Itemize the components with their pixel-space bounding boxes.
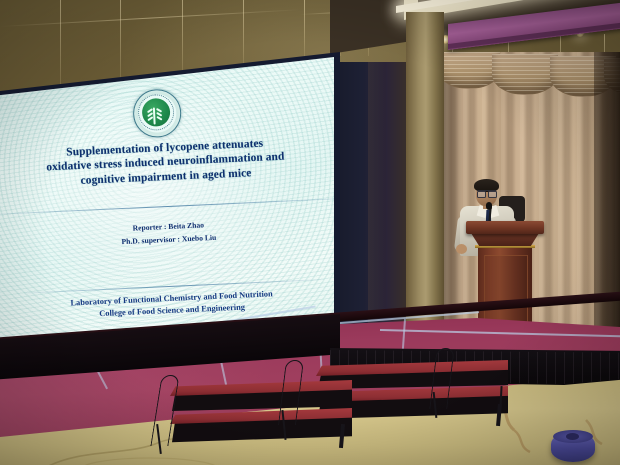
wall-seam [182,0,183,72]
slide-content: Supplementation of lycopene attenuates o… [0,57,334,339]
slide-title: Supplementation of lycopene attenuates o… [4,134,328,192]
speaker-hand [456,244,467,254]
podium-front-panel [484,255,528,329]
glasses-lens-right [488,191,497,198]
curtain-swag-lines [492,54,558,94]
curtain-swag [492,54,558,95]
microphone-icon [486,202,492,210]
container-opening [566,433,579,440]
conference-hall-photo: Supplementation of lycopene attenuates o… [0,0,620,465]
wall-seam [243,0,244,64]
podium-bevel [471,233,539,246]
podium-lectern-top[interactable] [466,221,544,234]
wall-seam [304,0,305,56]
slide-credits: Reporter : Beita Zhao Ph.D. supervisor :… [7,213,330,254]
wall-column [406,12,444,342]
glasses-lens-left [477,191,486,198]
wall-seam [60,0,61,88]
wall-seam [120,0,121,80]
wheat-leaf [156,116,162,121]
slide-divider-top [0,198,334,214]
university-seal-logo-icon [132,88,182,138]
led-presentation-screen[interactable]: Supplementation of lycopene attenuates o… [0,57,334,339]
backdrop-fold [368,62,386,344]
glasses-icon [477,190,496,196]
